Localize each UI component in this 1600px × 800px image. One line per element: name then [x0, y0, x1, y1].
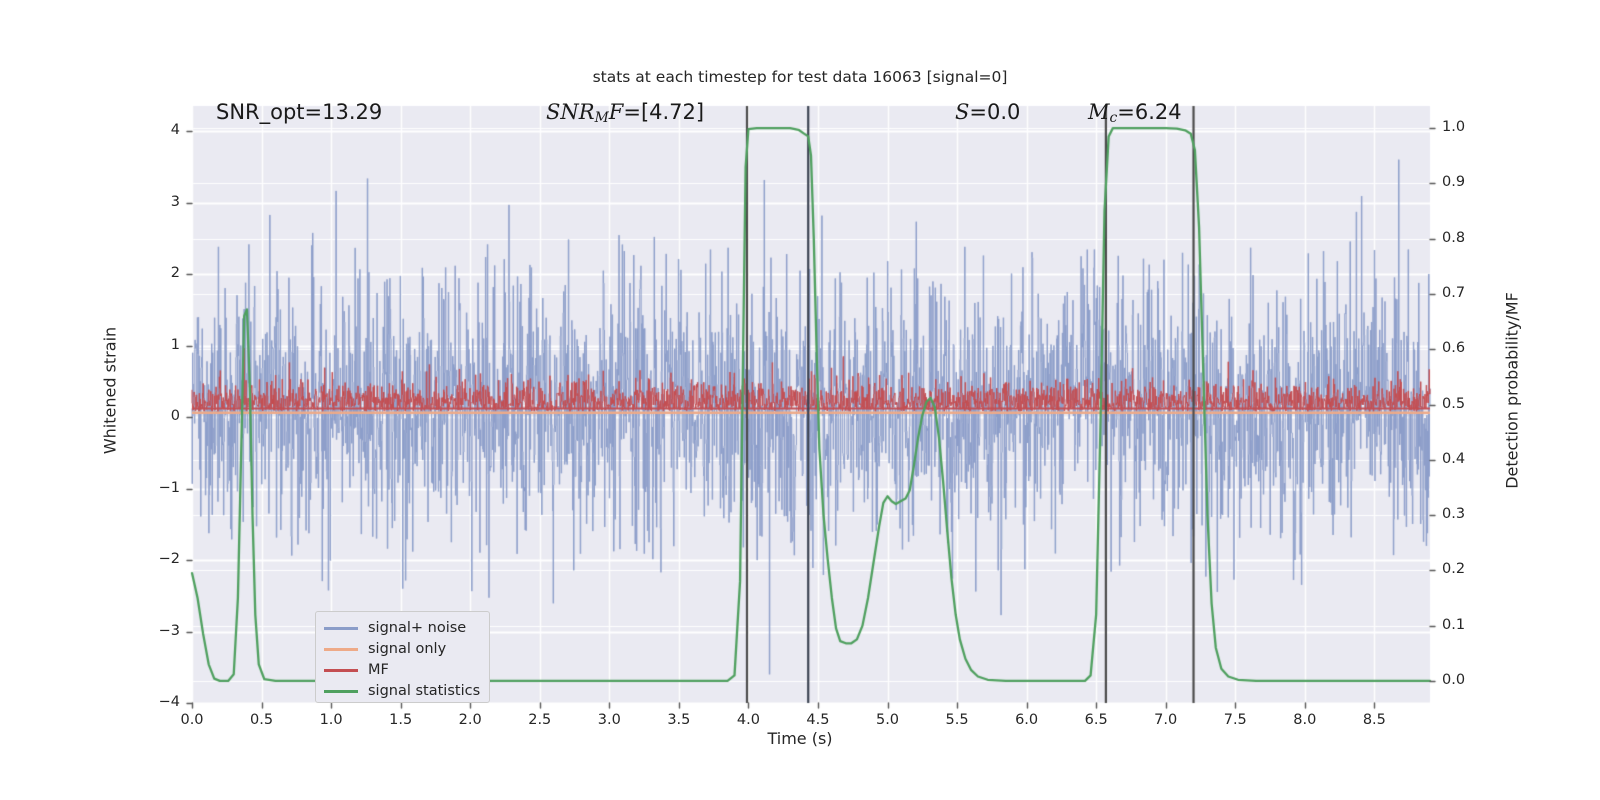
x-tick-label: 4.0 [718, 712, 778, 728]
y-tick-label-left: −3 [122, 623, 180, 639]
y-tick-label-right: 0.3 [1442, 506, 1500, 522]
legend-swatch-signal-statistics [324, 690, 358, 693]
x-tick-label: 0.5 [232, 712, 292, 728]
x-tick-label: 3.5 [649, 712, 709, 728]
x-tick-label: 2.5 [510, 712, 570, 728]
y-tick-label-right: 0.9 [1442, 174, 1500, 190]
y-tick-label-right: 0.7 [1442, 285, 1500, 301]
y-tick-label-left: −1 [122, 480, 180, 496]
y-tick-label-left: 1 [122, 337, 180, 353]
x-tick-label: 7.5 [1205, 712, 1265, 728]
legend-swatch-mf [324, 669, 358, 672]
x-tick-label: 5.5 [927, 712, 987, 728]
x-tick-label: 2.0 [440, 712, 500, 728]
x-tick-label: 3.0 [579, 712, 639, 728]
legend-label-signal-statistics: signal statistics [368, 684, 480, 699]
y-tick-label-left: −2 [122, 551, 180, 567]
x-tick-label: 4.5 [788, 712, 848, 728]
legend-label-mf: MF [368, 663, 389, 678]
legend-item-mf[interactable]: MF [324, 660, 481, 681]
x-tick-label: 0.0 [162, 712, 222, 728]
legend-item-signal-statistics[interactable]: signal statistics [324, 681, 481, 702]
x-tick-label: 6.0 [997, 712, 1057, 728]
y-tick-label-right: 1.0 [1442, 119, 1500, 135]
y-tick-label-right: 0.8 [1442, 230, 1500, 246]
legend-item-signal-only[interactable]: signal only [324, 639, 481, 660]
y-tick-label-left: 4 [122, 122, 180, 138]
figure-container: stats at each timestep for test data 160… [0, 0, 1600, 800]
x-tick-label: 8.0 [1275, 712, 1335, 728]
y-tick-label-left: 2 [122, 265, 180, 281]
y-tick-label-left: 0 [122, 408, 180, 424]
y-tick-label-left: 3 [122, 194, 180, 210]
y-tick-label-right: 0.5 [1442, 396, 1500, 412]
y-tick-label-right: 0.4 [1442, 451, 1500, 467]
y-tick-label-left: −4 [122, 694, 180, 710]
x-tick-label: 7.0 [1136, 712, 1196, 728]
legend: signal+ noise signal only MF signal stat… [315, 611, 490, 703]
x-tick-label: 8.5 [1344, 712, 1404, 728]
y-tick-label-right: 0.1 [1442, 617, 1500, 633]
legend-swatch-signal-only [324, 648, 358, 651]
x-tick-label: 5.0 [858, 712, 918, 728]
y-tick-label-right: 0.0 [1442, 672, 1500, 688]
plot-canvas [0, 0, 1600, 800]
x-tick-label: 1.5 [371, 712, 431, 728]
x-tick-label: 1.0 [301, 712, 361, 728]
legend-item-signal-noise[interactable]: signal+ noise [324, 618, 481, 639]
x-tick-label: 6.5 [1066, 712, 1126, 728]
legend-label-signal-noise: signal+ noise [368, 621, 466, 636]
legend-swatch-signal-noise [324, 627, 358, 630]
y-tick-label-right: 0.6 [1442, 340, 1500, 356]
legend-label-signal-only: signal only [368, 642, 446, 657]
y-tick-label-right: 0.2 [1442, 561, 1500, 577]
